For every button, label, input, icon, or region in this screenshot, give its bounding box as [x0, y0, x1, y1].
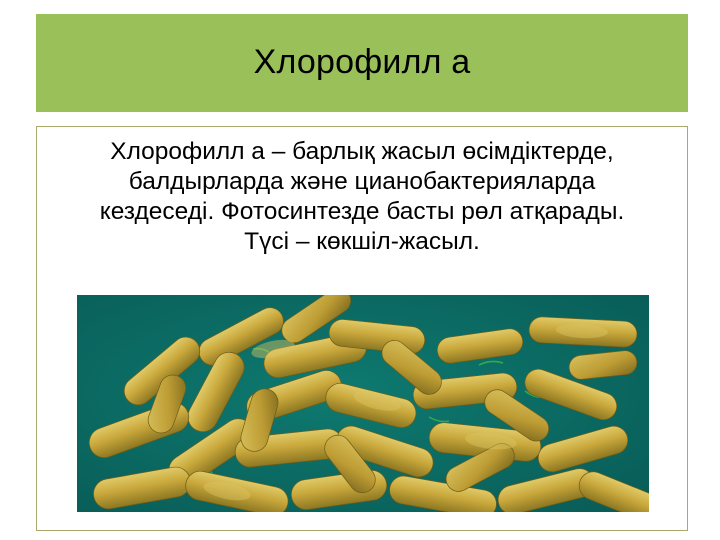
content-box: Хлорофилл а – барлық жасыл өсімдіктерде,…	[36, 126, 688, 531]
body-line-4: Түсі – көкшіл-жасыл.	[49, 227, 675, 257]
page-title: Хлорофилл а	[254, 44, 471, 81]
body-paragraph: Хлорофилл а – барлық жасыл өсімдіктерде,…	[37, 127, 687, 257]
figure-wrap	[77, 295, 649, 512]
body-line-1: Хлорофилл а – барлық жасыл өсімдіктерде,	[49, 137, 675, 167]
body-line-3: кездеседі. Фотосинтезде басты рөл атқара…	[49, 197, 675, 227]
bacteria-micrograph	[77, 295, 649, 512]
body-line-2: балдырларда және цианобактерияларда	[49, 167, 675, 197]
title-banner: Хлорофилл а	[36, 14, 688, 112]
